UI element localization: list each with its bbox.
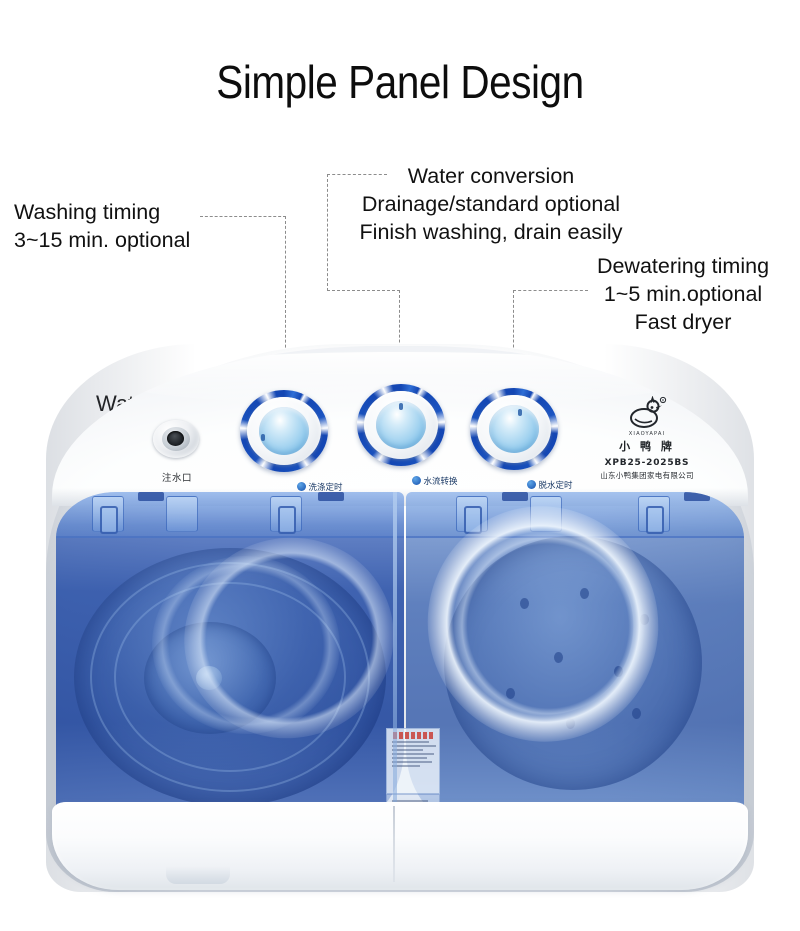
inlet-hole bbox=[167, 431, 184, 446]
lid-hinge-strip-left bbox=[56, 492, 404, 538]
callout-dewatering-line3: Fast dryer bbox=[578, 308, 788, 336]
inlet-cn-label: 注水口 bbox=[142, 470, 212, 484]
washing-machine-product: 注水口 洗涤定时 水流转换 bbox=[46, 344, 754, 892]
infographic-page: Simple Panel Design Washing timing 3~15 … bbox=[0, 0, 800, 931]
hinge-block bbox=[92, 496, 124, 532]
callout-dewatering-line2: 1~5 min.optional bbox=[578, 280, 788, 308]
callout-dewatering-timing: Dewatering timing 1~5 min.optional Fast … bbox=[578, 252, 788, 336]
tub-lids-area bbox=[56, 492, 744, 822]
basket-drain-hole bbox=[632, 708, 641, 719]
brand-block: R XIAOYAPAI 小 鸭 牌 XPB25-2025BS 山东小鸭集团家电有… bbox=[586, 396, 708, 481]
page-title: Simple Panel Design bbox=[48, 54, 752, 110]
water-inlet-icon[interactable] bbox=[153, 420, 199, 458]
dial-label-text: 脱水定时 bbox=[538, 481, 572, 491]
dial-knob[interactable] bbox=[489, 405, 539, 453]
front-cabinet-panel bbox=[52, 802, 748, 890]
spin-timer-icon bbox=[527, 480, 536, 489]
hinge-block bbox=[166, 496, 198, 532]
duck-logo-icon: R bbox=[627, 396, 667, 430]
dial-water-conversion[interactable]: 水流转换 bbox=[357, 384, 445, 466]
callout-washing-timing: Washing timing 3~15 min. optional bbox=[14, 198, 190, 254]
brand-model-number: XPB25-2025BS bbox=[586, 458, 708, 468]
hinge-tab bbox=[684, 492, 710, 501]
hinge-clip-icon bbox=[646, 506, 664, 534]
wash-tub-lid[interactable] bbox=[56, 492, 404, 822]
hinge-clip-icon bbox=[278, 506, 296, 534]
lid-center-seam bbox=[393, 492, 397, 822]
callout-washing-line1: Washing timing bbox=[14, 198, 190, 226]
dial-pointer bbox=[518, 409, 522, 416]
callout-water-conversion: Water conversion Drainage/standard optio… bbox=[345, 162, 637, 246]
callout-washing-line2: 3~15 min. optional bbox=[14, 226, 190, 254]
callout-dewatering-line1: Dewatering timing bbox=[578, 252, 788, 280]
hinge-clip-icon bbox=[100, 506, 118, 534]
dial-pointer bbox=[261, 434, 265, 441]
dial-label-text: 水流转换 bbox=[423, 477, 457, 487]
spin-basket-lid[interactable] bbox=[406, 492, 744, 822]
cabinet-foot-notch bbox=[166, 866, 230, 884]
callout-conversion-line3: Finish washing, drain easily bbox=[345, 218, 637, 246]
dial-spin-timer[interactable]: 脱水定时 bbox=[470, 388, 558, 470]
brand-pinyin: XIAOYAPAI bbox=[586, 431, 708, 437]
wash-timer-icon bbox=[297, 482, 306, 491]
front-cabinet-seam bbox=[393, 806, 395, 882]
callout-conversion-line2: Drainage/standard optional bbox=[345, 190, 637, 218]
water-flow-icon bbox=[412, 476, 421, 485]
dial-label-water-conversion: 水流转换 bbox=[375, 475, 495, 487]
hinge-block bbox=[638, 496, 670, 532]
dial-wash-timer[interactable]: 洗涤定时 bbox=[240, 390, 328, 472]
hinge-block bbox=[270, 496, 302, 532]
warning-sticker-header bbox=[393, 732, 433, 739]
dial-knob[interactable] bbox=[259, 407, 309, 455]
hinge-tab bbox=[318, 492, 344, 501]
dial-pointer bbox=[399, 403, 403, 410]
brand-name-cn: 小 鸭 牌 bbox=[586, 438, 708, 454]
callout-conversion-line1: Water conversion bbox=[345, 162, 637, 190]
hinge-tab bbox=[138, 492, 164, 501]
brand-company-cn: 山东小鸭集团家电有限公司 bbox=[586, 470, 708, 481]
hinge-tab bbox=[502, 492, 528, 501]
